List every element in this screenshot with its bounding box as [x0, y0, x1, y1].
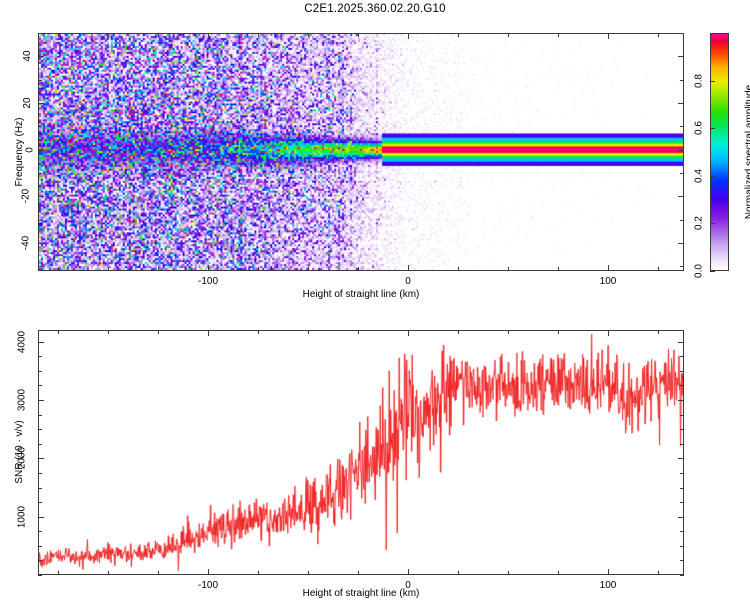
axis-tick [38, 173, 42, 174]
y-tick-label: 1000 [16, 506, 27, 528]
axis-tick [680, 444, 684, 445]
colorbar-tick-label: 0.0 [694, 264, 705, 278]
axis-tick [458, 330, 459, 334]
axis-tick [38, 243, 44, 244]
axis-tick [680, 560, 684, 561]
axis-tick [458, 571, 459, 575]
colorbar-image [711, 34, 728, 270]
axis-tick [680, 220, 684, 221]
spectrogram-plot-area [38, 33, 684, 271]
axis-tick [38, 80, 42, 81]
axis-tick [38, 356, 42, 357]
axis-tick [208, 330, 209, 336]
snr-y-axis-title: SNR (10 · v/v) [14, 420, 25, 483]
colorbar-tick-label: 0.8 [694, 74, 705, 88]
axis-tick [58, 571, 59, 575]
axis-tick [38, 196, 44, 197]
axis-tick [258, 330, 259, 334]
axis-tick [38, 488, 42, 489]
snr-plot-area [38, 330, 684, 575]
axis-tick [680, 473, 684, 474]
axis-tick [658, 267, 659, 271]
axis-tick [608, 330, 609, 336]
axis-tick [108, 571, 109, 575]
axis-tick [38, 150, 44, 151]
colorbar-tick [710, 223, 715, 224]
colorbar-tick [710, 271, 715, 272]
axis-tick [680, 371, 684, 372]
axis-tick [680, 385, 684, 386]
axis-tick [208, 569, 209, 575]
axis-tick [38, 473, 42, 474]
axis-tick [108, 267, 109, 271]
axis-tick [158, 267, 159, 271]
axis-tick [678, 150, 684, 151]
axis-tick [408, 33, 409, 39]
axis-tick [358, 330, 359, 334]
axis-tick [38, 103, 44, 104]
axis-tick [558, 33, 559, 37]
colorbar-tick [710, 81, 715, 82]
axis-tick [680, 80, 684, 81]
x-tick-label: 0 [405, 276, 411, 287]
colorbar-tick-label: 0.2 [694, 216, 705, 230]
axis-tick [408, 569, 409, 575]
axis-tick [38, 444, 42, 445]
axis-tick [680, 531, 684, 532]
axis-tick [208, 33, 209, 39]
axis-tick [680, 126, 684, 127]
axis-tick [558, 330, 559, 334]
axis-tick [308, 571, 309, 575]
axis-tick [678, 243, 684, 244]
colorbar-tick-label: 0.6 [694, 121, 705, 135]
axis-tick [38, 342, 44, 343]
axis-tick [38, 56, 44, 57]
y-tick-label: -40 [20, 236, 31, 250]
axis-tick [38, 266, 42, 267]
axis-tick [38, 220, 42, 221]
spectrogram-x-axis-title: Height of straight line (km) [303, 289, 420, 300]
axis-tick [678, 400, 684, 401]
axis-tick [680, 502, 684, 503]
axis-tick [558, 267, 559, 271]
axis-tick [408, 330, 409, 336]
y-tick-label: -20 [20, 189, 31, 203]
axis-tick [38, 126, 42, 127]
axis-tick [38, 385, 42, 386]
axis-tick [208, 265, 209, 271]
axis-tick [680, 266, 684, 267]
spectrogram-y-axis-title: Frequency (Hz) [14, 118, 25, 187]
axis-tick [408, 265, 409, 271]
axis-tick [678, 517, 684, 518]
axis-tick [678, 56, 684, 57]
axis-tick [58, 330, 59, 334]
axis-tick [608, 33, 609, 39]
axis-tick [680, 356, 684, 357]
axis-tick [680, 546, 684, 547]
spectrogram-image [39, 34, 683, 270]
axis-tick [680, 415, 684, 416]
axis-tick [658, 330, 659, 334]
axis-tick [458, 267, 459, 271]
axis-tick [680, 488, 684, 489]
figure-title: C2E1.2025.360.02.20.G10 [0, 3, 750, 15]
axis-tick [680, 173, 684, 174]
colorbar-gradient [710, 33, 729, 271]
colorbar-tick [710, 176, 715, 177]
axis-tick [358, 571, 359, 575]
axis-tick [38, 546, 42, 547]
y-tick-label: 40 [22, 50, 33, 61]
axis-tick [38, 517, 44, 518]
axis-tick [258, 571, 259, 575]
axis-tick [38, 575, 42, 576]
axis-tick [38, 429, 42, 430]
axis-tick [308, 33, 309, 37]
axis-tick [308, 267, 309, 271]
axis-tick [38, 415, 42, 416]
axis-tick [358, 33, 359, 37]
axis-tick [158, 33, 159, 37]
axis-tick [508, 267, 509, 271]
axis-tick [508, 571, 509, 575]
axis-tick [678, 103, 684, 104]
axis-tick [608, 569, 609, 575]
axis-tick [680, 429, 684, 430]
axis-tick [108, 33, 109, 37]
axis-tick [38, 502, 42, 503]
y-tick-label: 0 [25, 147, 36, 153]
figure-root: C2E1.2025.360.02.20.G10 -100010040200-20… [0, 0, 750, 600]
axis-tick [38, 400, 44, 401]
x-tick-label: 100 [600, 580, 617, 591]
y-tick-label: 20 [22, 97, 33, 108]
axis-tick [508, 33, 509, 37]
y-tick-label: 3000 [16, 389, 27, 411]
axis-tick [38, 371, 42, 372]
y-tick-label: 4000 [16, 331, 27, 353]
axis-tick [38, 33, 42, 34]
axis-tick [680, 33, 684, 34]
snr-x-axis-title: Height of straight line (km) [303, 588, 420, 599]
axis-tick [678, 342, 684, 343]
axis-tick [558, 571, 559, 575]
axis-tick [678, 458, 684, 459]
axis-tick [108, 330, 109, 334]
axis-tick [258, 267, 259, 271]
axis-tick [358, 267, 359, 271]
x-tick-label: -100 [198, 276, 218, 287]
colorbar-title: Normalized spectral amplitude [744, 85, 750, 220]
axis-tick [58, 267, 59, 271]
axis-tick [678, 196, 684, 197]
axis-tick [458, 33, 459, 37]
axis-tick [258, 33, 259, 37]
axis-tick [508, 330, 509, 334]
axis-tick [658, 33, 659, 37]
axis-tick [158, 571, 159, 575]
axis-tick [38, 560, 42, 561]
axis-tick [38, 458, 44, 459]
axis-tick [658, 571, 659, 575]
axis-tick [38, 531, 42, 532]
axis-tick [608, 265, 609, 271]
colorbar-tick [710, 128, 715, 129]
x-tick-label: -100 [198, 580, 218, 591]
colorbar-tick-label: 0.4 [694, 169, 705, 183]
axis-tick [680, 575, 684, 576]
axis-tick [158, 330, 159, 334]
snr-trace [39, 331, 683, 574]
x-tick-label: 100 [600, 276, 617, 287]
axis-tick [308, 330, 309, 334]
axis-tick [58, 33, 59, 37]
